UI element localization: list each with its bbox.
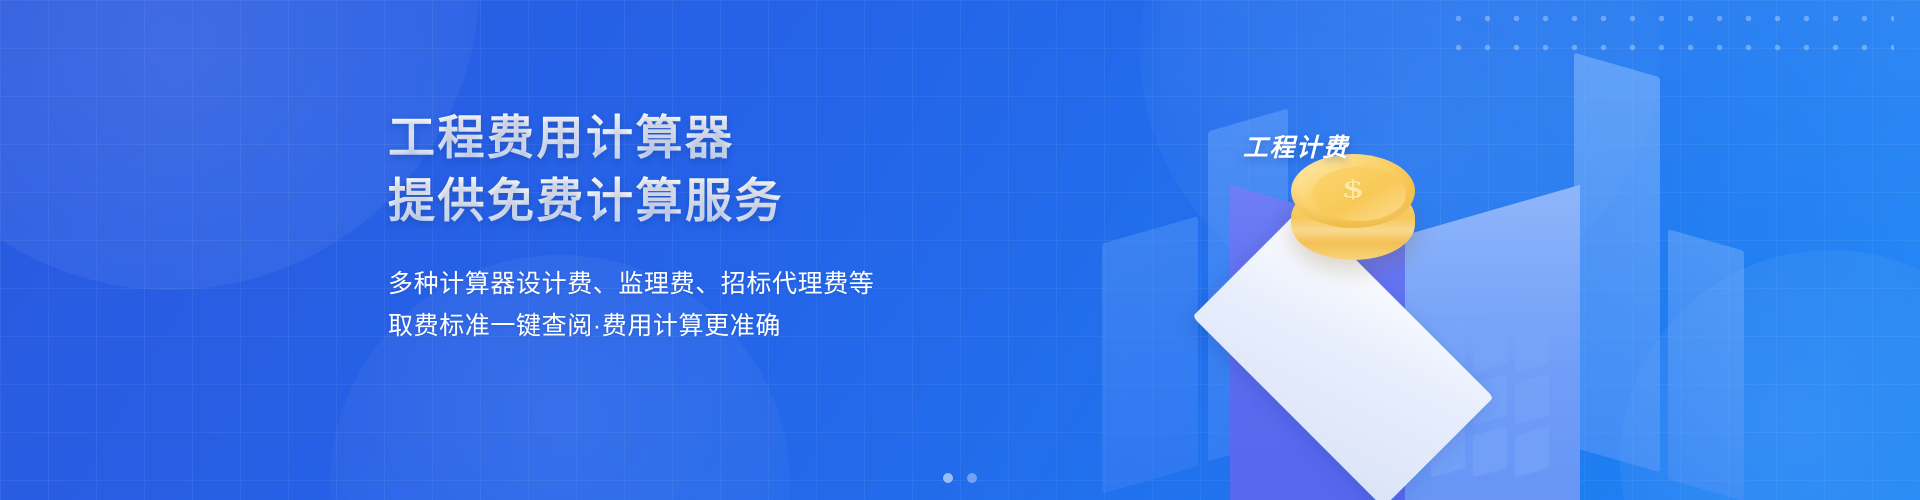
promo-banner: 工程费用计算器 提供免费计算服务 多种计算器设计费、监理费、招标代理费等 取费标… (0, 0, 1920, 500)
carousel-dot-1[interactable] (943, 473, 953, 483)
carousel-dots[interactable] (0, 473, 1920, 483)
dollar-sign-icon: $ (1291, 175, 1415, 204)
banner-copy: 工程费用计算器 提供免费计算服务 多种计算器设计费、监理费、招标代理费等 取费标… (388, 108, 1048, 347)
window (1473, 426, 1507, 478)
headline-line-1: 工程费用计算器 (388, 108, 1048, 167)
coin-top-face: $ (1291, 154, 1415, 228)
background-bar-3 (1574, 53, 1660, 473)
banner-illustration: $ 工程计费 (1080, 0, 1780, 500)
headline-line-2: 提供免费计算服务 (388, 171, 1048, 230)
background-bar-1 (1102, 216, 1198, 494)
gold-coin-icon: $ (1285, 148, 1421, 274)
window (1473, 322, 1507, 374)
carousel-dot-2[interactable] (967, 473, 977, 483)
window (1515, 322, 1549, 374)
window (1515, 374, 1549, 426)
subtitle-line-2: 取费标准一键查阅·费用计算更准确 (388, 305, 1048, 347)
illustration-label: 工程计费 (1243, 128, 1349, 164)
background-bar-4 (1668, 229, 1744, 500)
subtitle-line-1: 多种计算器设计费、监理费、招标代理费等 (388, 263, 1048, 305)
window (1515, 426, 1549, 478)
